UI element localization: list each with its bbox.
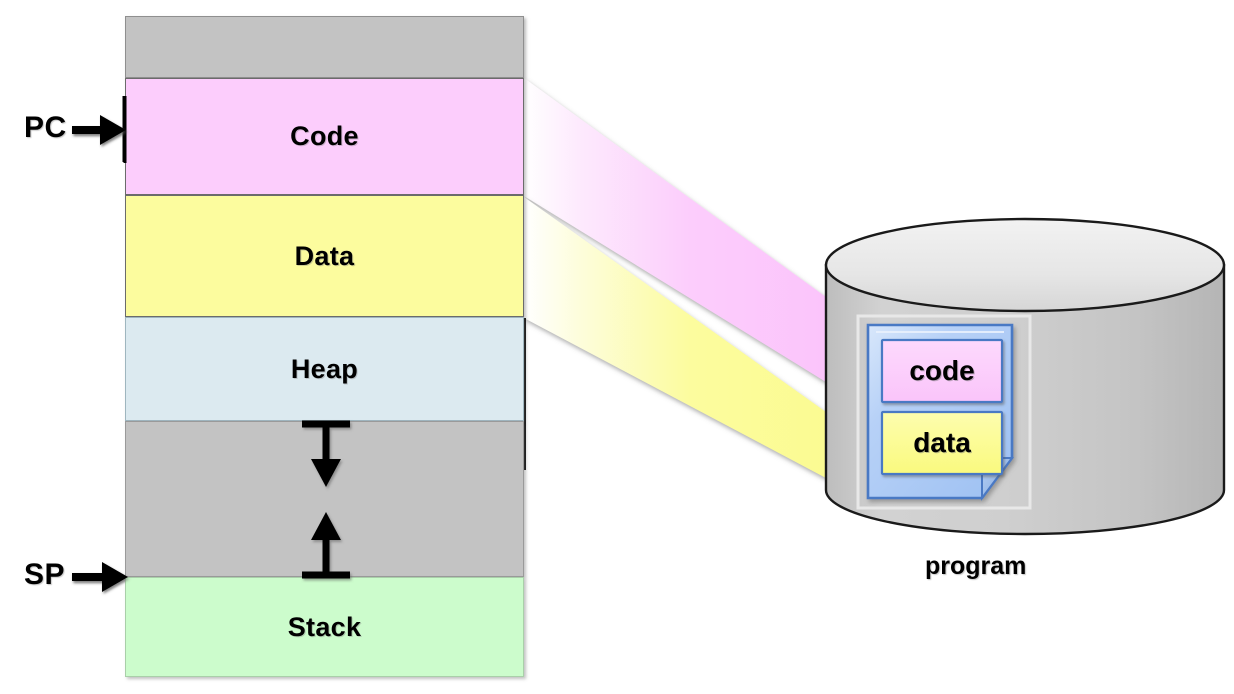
sp-pointer-label: SP [24, 558, 65, 592]
sp-arrow [72, 563, 128, 591]
memory-block-top-reserved[interactable] [125, 16, 524, 78]
program-caption-text: program [925, 552, 1026, 580]
program-document-icon[interactable] [858, 316, 1030, 508]
document-data-chip-label: data [882, 427, 1002, 459]
code-chip-text: code [909, 355, 974, 386]
memory-block-code[interactable]: Code [125, 78, 524, 195]
diagram-canvas: Code Data Heap Stack [0, 0, 1234, 694]
pc-arrow-fg [72, 115, 126, 145]
pc-label-text: PC [24, 111, 67, 144]
memory-block-free-space[interactable] [125, 421, 524, 577]
pc-pointer-label: PC [24, 111, 67, 145]
memory-block-heap[interactable]: Heap [125, 317, 524, 421]
memory-block-label: Data [295, 241, 355, 272]
data-band [524, 197, 826, 478]
code-band [524, 78, 826, 382]
document-code-chip-label: code [882, 355, 1002, 387]
program-caption: program [925, 552, 1026, 581]
memory-block-data[interactable]: Data [125, 195, 524, 317]
data-chip-text: data [913, 427, 971, 458]
memory-block-stack[interactable]: Stack [125, 577, 524, 677]
memory-block-label: Heap [291, 354, 358, 385]
memory-block-label: Code [290, 121, 359, 152]
memory-block-label: Stack [288, 612, 362, 643]
pc-arrow [72, 116, 126, 144]
sp-arrow-fg [72, 562, 128, 592]
sp-label-text: SP [24, 558, 65, 591]
